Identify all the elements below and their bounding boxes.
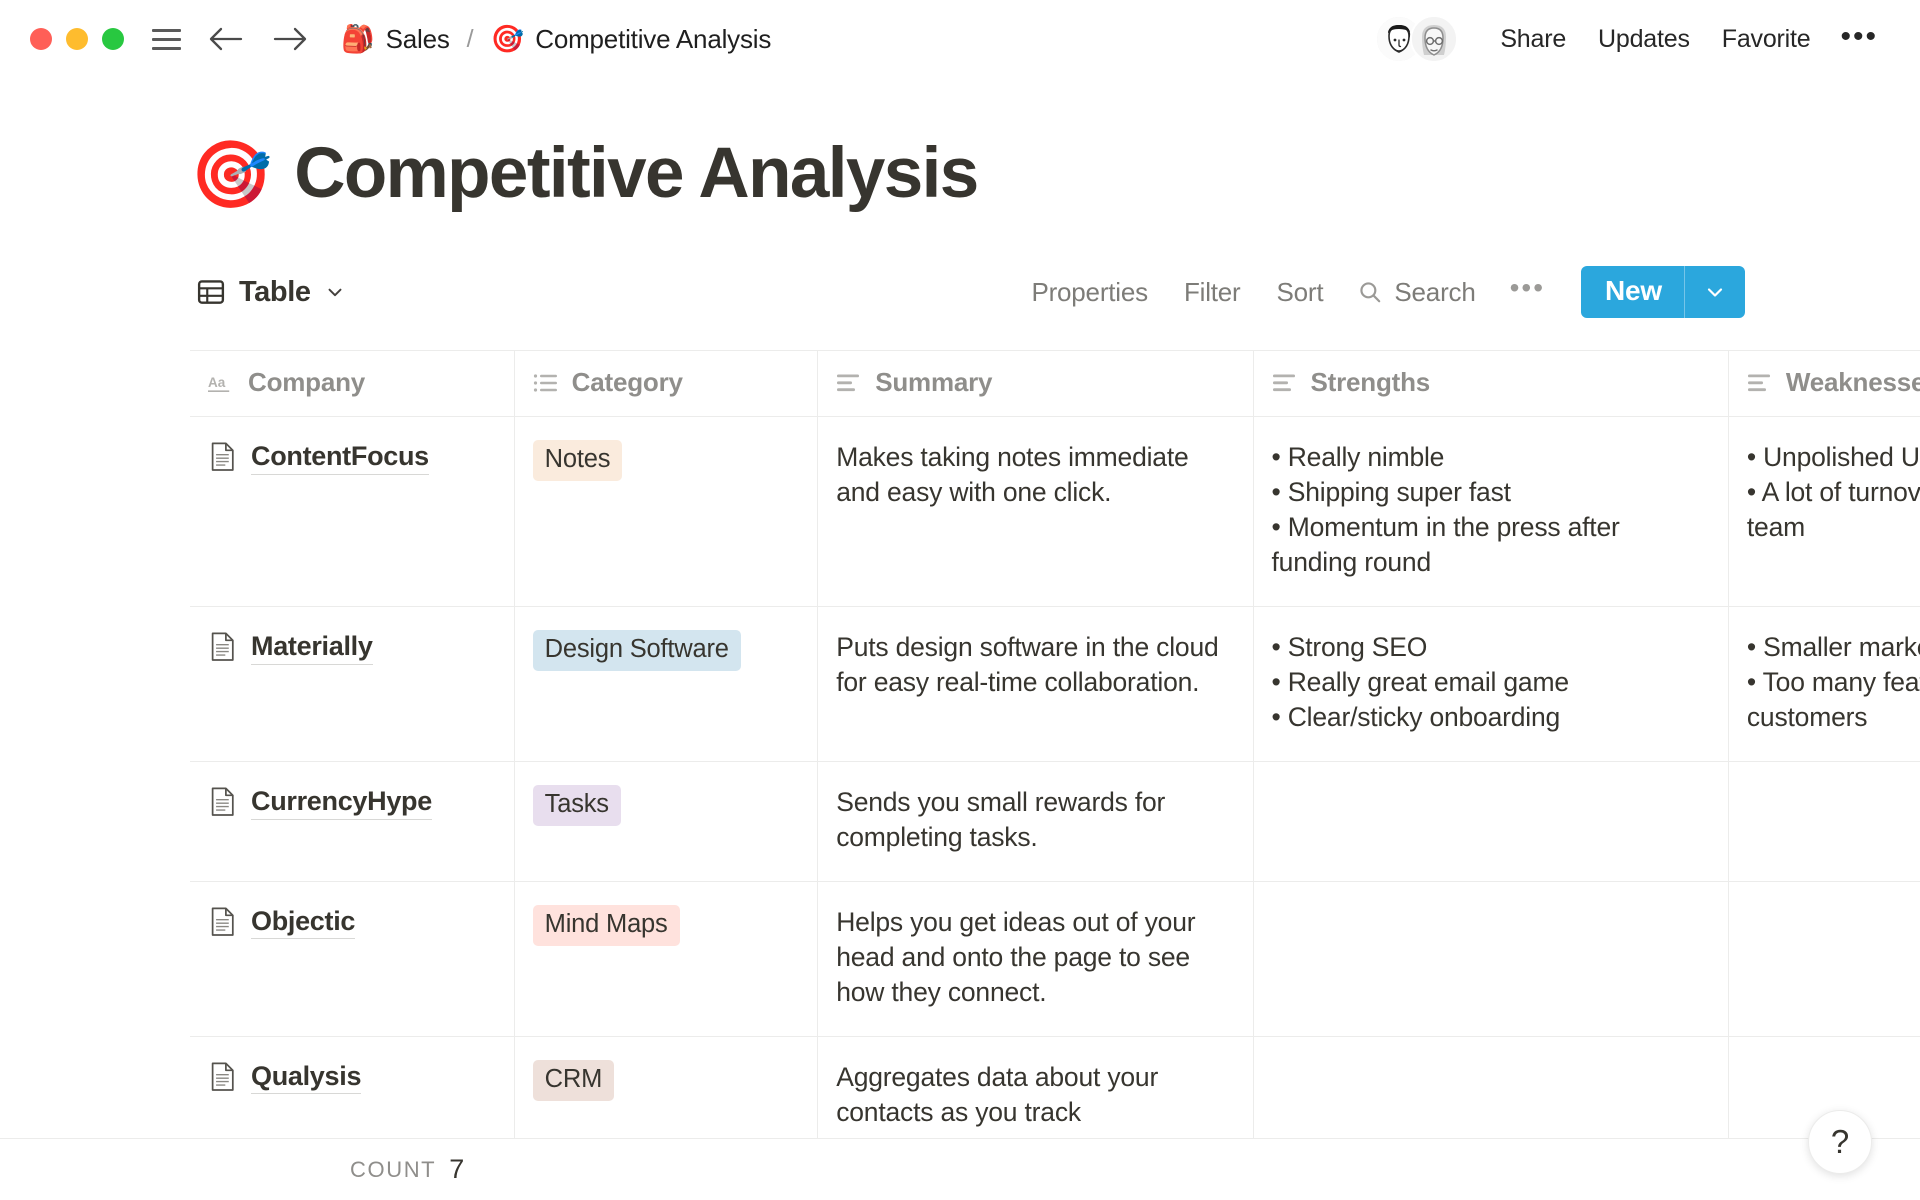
column-header-label: Weaknesses <box>1786 367 1920 398</box>
view-toolbar-actions: Properties Filter Sort Search ••• New <box>1013 266 1745 318</box>
row-title-link[interactable]: Materially <box>251 630 373 665</box>
column-header-company[interactable]: Aa Company <box>190 351 514 417</box>
category-tag: Tasks <box>533 785 621 826</box>
table-header-row: Aa Company <box>190 351 1920 417</box>
title-bar: 🎒 Sales / 🎯 Competitive Analysis <box>0 0 1920 78</box>
view-tab-table[interactable]: Table <box>190 272 352 313</box>
cell-category[interactable]: Mind Maps <box>514 881 818 1036</box>
hamburger-icon[interactable] <box>152 25 181 54</box>
breadcrumb-separator: / <box>467 25 474 54</box>
properties-button[interactable]: Properties <box>1013 271 1166 314</box>
column-header-strengths[interactable]: Strengths <box>1253 351 1728 417</box>
text-lines-icon <box>1272 372 1298 394</box>
text-lines-icon <box>836 372 862 394</box>
database-table-container: Aa Company <box>0 350 1920 1157</box>
column-header-weaknesses[interactable]: Weaknesses <box>1728 351 1920 417</box>
table-footer: COUNT 7 <box>0 1138 1920 1200</box>
table-row[interactable]: CurrencyHype Tasks Sends you small rewar… <box>190 761 1920 881</box>
title-text-icon: Aa <box>208 372 235 394</box>
column-header-label: Summary <box>875 367 992 398</box>
row-title-link[interactable]: CurrencyHype <box>251 785 432 820</box>
chevron-down-icon[interactable] <box>324 281 346 303</box>
favorite-button[interactable]: Favorite <box>1706 19 1827 60</box>
cell-weaknesses[interactable] <box>1728 761 1920 881</box>
page-document-icon <box>210 907 236 942</box>
summary-text: Aggregates data about your contacts as y… <box>836 1060 1234 1130</box>
new-button-dropdown-icon[interactable] <box>1685 266 1745 318</box>
cell-weaknesses[interactable] <box>1728 881 1920 1036</box>
arrow-left-icon[interactable] <box>207 25 245 53</box>
count-label: COUNT <box>350 1157 436 1183</box>
cell-strengths[interactable]: • Strong SEO • Really great email game •… <box>1253 606 1728 761</box>
app-window: 🎒 Sales / 🎯 Competitive Analysis <box>0 0 1920 1200</box>
page-document-icon <box>210 632 236 667</box>
text-lines-icon <box>1747 372 1773 394</box>
select-list-icon <box>533 372 559 394</box>
view-toolbar: Table Properties Filter Sort Search ••• … <box>0 214 1920 318</box>
close-window-button[interactable] <box>30 28 52 50</box>
sort-button[interactable]: Sort <box>1259 271 1342 314</box>
arrow-right-icon[interactable] <box>271 25 309 53</box>
window-controls <box>30 28 124 50</box>
svg-text:Aa: Aa <box>208 374 226 389</box>
page-title-row: 🎯 Competitive Analysis <box>0 78 1920 214</box>
summary-text: Puts design software in the cloud for ea… <box>836 630 1234 700</box>
breadcrumb-current-label: Competitive Analysis <box>535 24 771 55</box>
cell-company[interactable]: CurrencyHype <box>190 761 514 881</box>
column-header-summary[interactable]: Summary <box>818 351 1253 417</box>
weaknesses-text: • Smaller market • Too many features for… <box>1747 630 1920 735</box>
new-button-label[interactable]: New <box>1581 266 1685 318</box>
cell-category[interactable]: Design Software <box>514 606 818 761</box>
view-name-label: Table <box>239 276 311 309</box>
summary-text: Sends you small rewards for completing t… <box>836 785 1234 855</box>
table-icon <box>196 277 226 307</box>
table-row[interactable]: Materially Design Software Puts design s… <box>190 606 1920 761</box>
dart-icon: 🎯 <box>491 26 525 53</box>
count-value: 7 <box>449 1154 464 1185</box>
cell-summary[interactable]: Sends you small rewards for completing t… <box>818 761 1253 881</box>
table-body: ContentFocus Notes Makes taking notes im… <box>190 417 1920 1157</box>
page-document-icon <box>210 787 236 822</box>
help-button[interactable]: ? <box>1808 1110 1872 1174</box>
cell-summary[interactable]: Makes taking notes immediate and easy wi… <box>818 417 1253 607</box>
summary-text: Makes taking notes immediate and easy wi… <box>836 440 1234 510</box>
column-header-label: Company <box>248 367 365 398</box>
cell-strengths[interactable] <box>1253 761 1728 881</box>
minimize-window-button[interactable] <box>66 28 88 50</box>
category-tag: CRM <box>533 1060 614 1101</box>
cell-company[interactable]: Materially <box>190 606 514 761</box>
title-bar-actions: Share Updates Favorite ••• <box>1375 15 1892 63</box>
maximize-window-button[interactable] <box>102 28 124 50</box>
breadcrumb: 🎒 Sales / 🎯 Competitive Analysis <box>335 21 777 58</box>
dart-icon[interactable]: 🎯 <box>190 141 272 207</box>
breadcrumb-item-competitive-analysis[interactable]: 🎯 Competitive Analysis <box>485 21 778 58</box>
search-icon <box>1357 279 1383 305</box>
strengths-text: • Strong SEO • Really great email game •… <box>1272 630 1710 735</box>
new-button[interactable]: New <box>1581 266 1745 318</box>
cell-category[interactable]: Tasks <box>514 761 818 881</box>
updates-button[interactable]: Updates <box>1582 19 1706 60</box>
backpack-icon: 🎒 <box>341 26 375 53</box>
more-options-icon[interactable]: ••• <box>1826 23 1892 56</box>
share-button[interactable]: Share <box>1484 19 1582 60</box>
page-title[interactable]: Competitive Analysis <box>294 133 977 214</box>
cell-summary[interactable]: Helps you get ideas out of your head and… <box>818 881 1253 1036</box>
avatar[interactable] <box>1410 15 1458 63</box>
database-table: Aa Company <box>190 350 1920 1157</box>
category-tag: Notes <box>533 440 623 481</box>
category-tag: Mind Maps <box>533 905 680 946</box>
table-row[interactable]: ContentFocus Notes Makes taking notes im… <box>190 417 1920 607</box>
cell-company[interactable]: Objectic <box>190 881 514 1036</box>
summary-text: Helps you get ideas out of your head and… <box>836 905 1234 1010</box>
row-title-link[interactable]: Qualysis <box>251 1060 361 1095</box>
collaborator-avatars[interactable] <box>1375 15 1458 63</box>
breadcrumb-item-sales[interactable]: 🎒 Sales <box>335 21 456 58</box>
view-more-options-icon[interactable]: ••• <box>1492 275 1559 309</box>
filter-button[interactable]: Filter <box>1166 271 1259 314</box>
cell-company[interactable]: ContentFocus <box>190 417 514 607</box>
cell-weaknesses[interactable]: • Unpolished UI • A lot of turnover on t… <box>1728 417 1920 607</box>
column-header-category[interactable]: Category <box>514 351 818 417</box>
category-tag: Design Software <box>533 630 741 671</box>
breadcrumb-parent-label: Sales <box>386 24 450 55</box>
cell-summary[interactable]: Puts design software in the cloud for ea… <box>818 606 1253 761</box>
cell-category[interactable]: Notes <box>514 417 818 607</box>
row-title-link[interactable]: ContentFocus <box>251 440 429 475</box>
search-button[interactable]: Search <box>1341 271 1491 314</box>
weaknesses-text: • Unpolished UI • A lot of turnover on t… <box>1747 440 1920 545</box>
page-document-icon <box>210 442 236 477</box>
cell-strengths[interactable]: • Really nimble • Shipping super fast • … <box>1253 417 1728 607</box>
search-label: Search <box>1394 277 1475 308</box>
row-title-link[interactable]: Objectic <box>251 905 355 940</box>
table-row[interactable]: Objectic Mind Maps Helps you get ideas o… <box>190 881 1920 1036</box>
strengths-text: • Really nimble • Shipping super fast • … <box>1272 440 1710 580</box>
column-header-label: Category <box>572 367 683 398</box>
cell-weaknesses[interactable]: • Smaller market • Too many features for… <box>1728 606 1920 761</box>
page-document-icon <box>210 1062 236 1097</box>
column-header-label: Strengths <box>1311 367 1431 398</box>
cell-strengths[interactable] <box>1253 881 1728 1036</box>
